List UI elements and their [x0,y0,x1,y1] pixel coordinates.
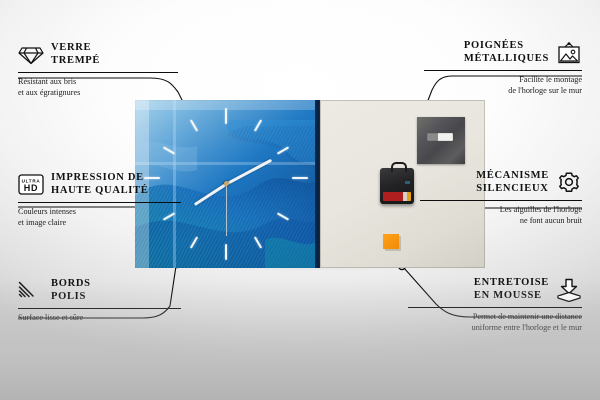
callout-poignees-desc: Facilite le montage de l'horloge sur le … [424,74,582,96]
callout-mecanisme: MÉCANISME SILENCIEUX Les aiguilles de l'… [420,170,582,226]
callout-verre-trempe: VERRE TREMPÉ Résistant aux bris et aux é… [18,42,178,98]
callout-impression: ultra HD IMPRESSION DE HAUTE QUALITÉ Cou… [18,172,181,228]
callout-entretoise: ENTRETOISE EN MOUSSE Permet de maintenir… [408,277,582,333]
callout-mecanisme-desc: Les aiguilles de l'horloge ne font aucun… [420,204,582,226]
ultra-hd-icon: ultra HD [18,174,44,195]
svg-text:HD: HD [24,183,38,193]
foam-spacer [383,234,399,249]
callout-bords-polis: BORDS POLIS Surface lisse et sûre [18,278,181,323]
metal-hanger-plate [417,117,465,164]
callout-poignees-title-row: POIGNÉES MÉTALLIQUES [424,40,582,66]
movement-hook [391,162,407,172]
callout-poignees-rule [424,70,582,71]
picture-hanger-icon [556,42,582,64]
callout-entretoise-rule [408,307,582,308]
callout-entretoise-title: ENTRETOISE EN MOUSSE [474,277,549,303]
callout-poignees: POIGNÉES MÉTALLIQUES Facilite le montage… [424,40,582,96]
tick-3 [292,177,308,179]
callout-verre-rule [18,72,178,73]
infographic-canvas: VERRE TREMPÉ Résistant aux bris et aux é… [0,0,600,400]
callout-verre-desc: Résistant aux bris et aux égratignures [18,76,178,98]
diamond-icon [18,45,44,65]
tick-12 [225,108,227,124]
callout-bords-title: BORDS POLIS [51,278,91,304]
polished-edge-icon [18,281,44,301]
callout-mecanisme-title-row: MÉCANISME SILENCIEUX [420,170,582,196]
foam-spacer-icon [556,278,582,302]
callout-poignees-title: POIGNÉES MÉTALLIQUES [464,40,549,66]
callout-entretoise-title-row: ENTRETOISE EN MOUSSE [408,277,582,303]
callout-bords-title-row: BORDS POLIS [18,278,181,304]
gear-icon [556,171,582,195]
callout-bords-rule [18,308,181,309]
callout-bords-desc: Surface lisse et sûre [18,312,181,323]
callout-impression-title-row: ultra HD IMPRESSION DE HAUTE QUALITÉ [18,172,181,198]
hanger-slot [427,133,453,141]
second-hand [226,184,227,236]
clock-hub [224,181,229,186]
callout-verre-title-row: VERRE TREMPÉ [18,42,178,68]
callout-verre-title: VERRE TREMPÉ [51,42,100,68]
callout-entretoise-desc: Permet de maintenir une distance uniform… [408,311,582,333]
battery [383,192,411,201]
callout-impression-desc: Couleurs intenses et image claire [18,206,181,228]
clock-movement [380,168,414,204]
tick-6 [225,244,227,260]
callout-mecanisme-rule [420,200,582,201]
callout-impression-title: IMPRESSION DE HAUTE QUALITÉ [51,172,149,198]
movement-marking [405,181,410,184]
callout-mecanisme-title: MÉCANISME SILENCIEUX [476,170,549,196]
callout-impression-rule [18,202,181,203]
